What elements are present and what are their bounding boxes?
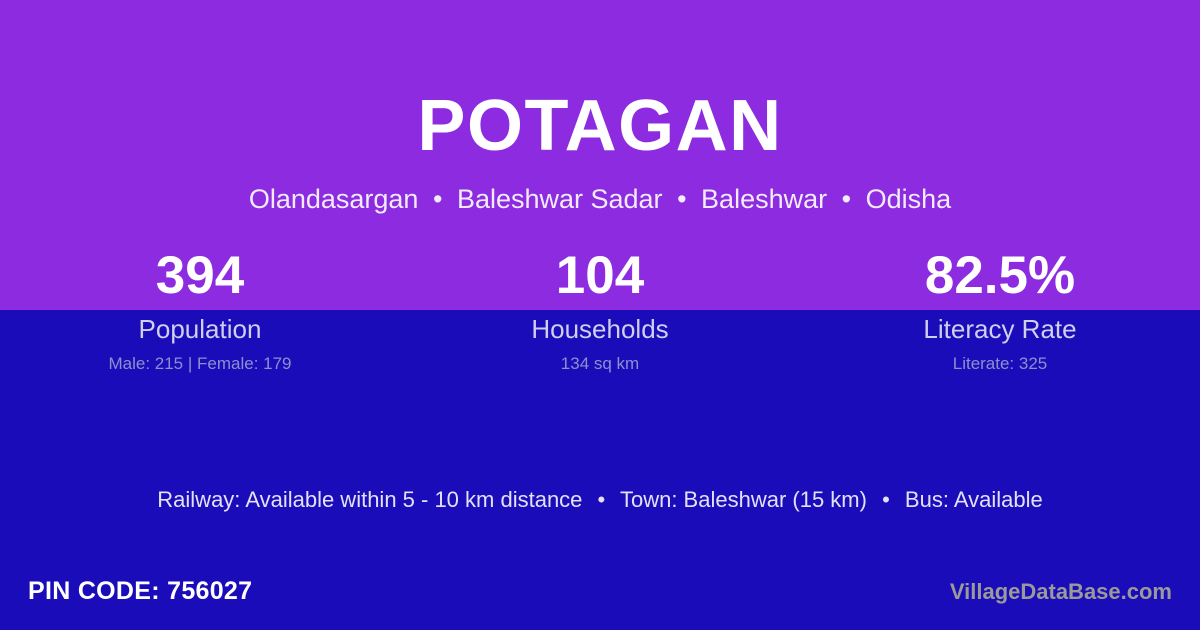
stat-label: Population <box>0 314 400 344</box>
stat-population: 394 Population Male: 215 | Female: 179 <box>0 243 400 374</box>
stat-households: 104 Households 134 sq km <box>400 243 800 374</box>
infrastructure-separator: • <box>589 485 615 515</box>
pin-code: PIN CODE: 756027 <box>28 575 252 607</box>
stat-value: 104 <box>400 243 800 309</box>
breadcrumb-separator: • <box>835 183 858 216</box>
stat-value: 394 <box>0 243 400 309</box>
breadcrumb-item-subdistrict: Baleshwar Sadar <box>457 184 663 214</box>
breadcrumb-separator: • <box>426 183 449 216</box>
stat-label: Households <box>400 314 800 344</box>
breadcrumb-item-village: Olandasargan <box>249 184 419 214</box>
statistics-row: 394 Population Male: 215 | Female: 179 1… <box>0 243 1200 374</box>
breadcrumb: Olandasargan • Baleshwar Sadar • Baleshw… <box>0 183 1200 216</box>
infrastructure-summary: Railway: Available within 5 - 10 km dist… <box>0 485 1200 515</box>
stat-detail: Male: 215 | Female: 179 <box>0 354 400 374</box>
stat-detail: Literate: 325 <box>800 354 1200 374</box>
village-info-card: POTAGAN Olandasargan • Baleshwar Sadar •… <box>0 0 1200 630</box>
stat-detail: 134 sq km <box>400 354 800 374</box>
infrastructure-separator: • <box>873 485 899 515</box>
site-watermark: VillageDataBase.com <box>950 578 1172 606</box>
stat-literacy-rate: 82.5% Literacy Rate Literate: 325 <box>800 243 1200 374</box>
infrastructure-item-bus: Bus: Available <box>905 487 1043 512</box>
breadcrumb-item-state: Odisha <box>866 184 952 214</box>
breadcrumb-item-district: Baleshwar <box>701 184 827 214</box>
infrastructure-item-railway: Railway: Available within 5 - 10 km dist… <box>157 487 582 512</box>
stat-label: Literacy Rate <box>800 314 1200 344</box>
breadcrumb-separator: • <box>670 183 693 216</box>
page-title: POTAGAN <box>0 83 1200 169</box>
stat-value: 82.5% <box>800 243 1200 309</box>
infrastructure-item-town: Town: Baleshwar (15 km) <box>620 487 867 512</box>
